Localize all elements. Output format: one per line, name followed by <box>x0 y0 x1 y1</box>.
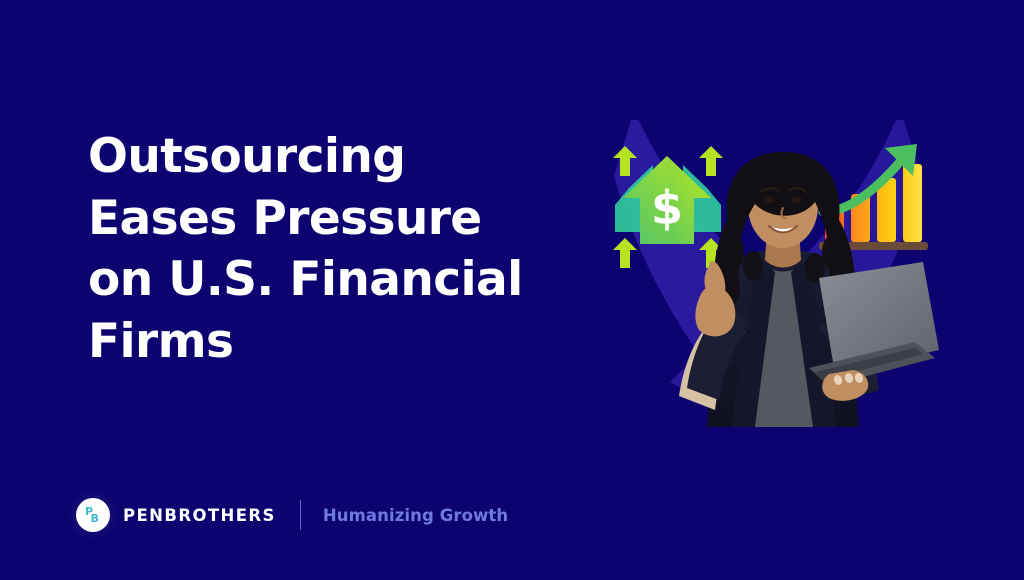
penbrothers-logo-badge[interactable]: P B <box>76 498 110 532</box>
headline-line-4: Firms <box>88 311 588 373</box>
headline-line-1: Outsourcing <box>88 126 588 188</box>
headline-line-3: on U.S. Financial <box>88 249 588 311</box>
svg-text:B: B <box>91 512 99 525</box>
headline: Outsourcing Eases Pressure on U.S. Finan… <box>88 126 588 372</box>
pb-monogram-icon: P B <box>82 504 104 526</box>
headline-line-2: Eases Pressure <box>88 188 588 250</box>
logo-divider <box>300 500 301 530</box>
brand-tagline: Humanizing Growth <box>323 506 508 525</box>
hero-artwork: $ <box>575 118 975 418</box>
brand-lockup[interactable]: P B PENBROTHERS Humanizing Growth <box>76 496 508 534</box>
promo-banner: Outsourcing Eases Pressure on U.S. Finan… <box>0 0 1024 580</box>
businesswoman-thumbs-up-photo <box>623 142 943 427</box>
penbrothers-wordmark: PENBROTHERS <box>123 506 276 525</box>
